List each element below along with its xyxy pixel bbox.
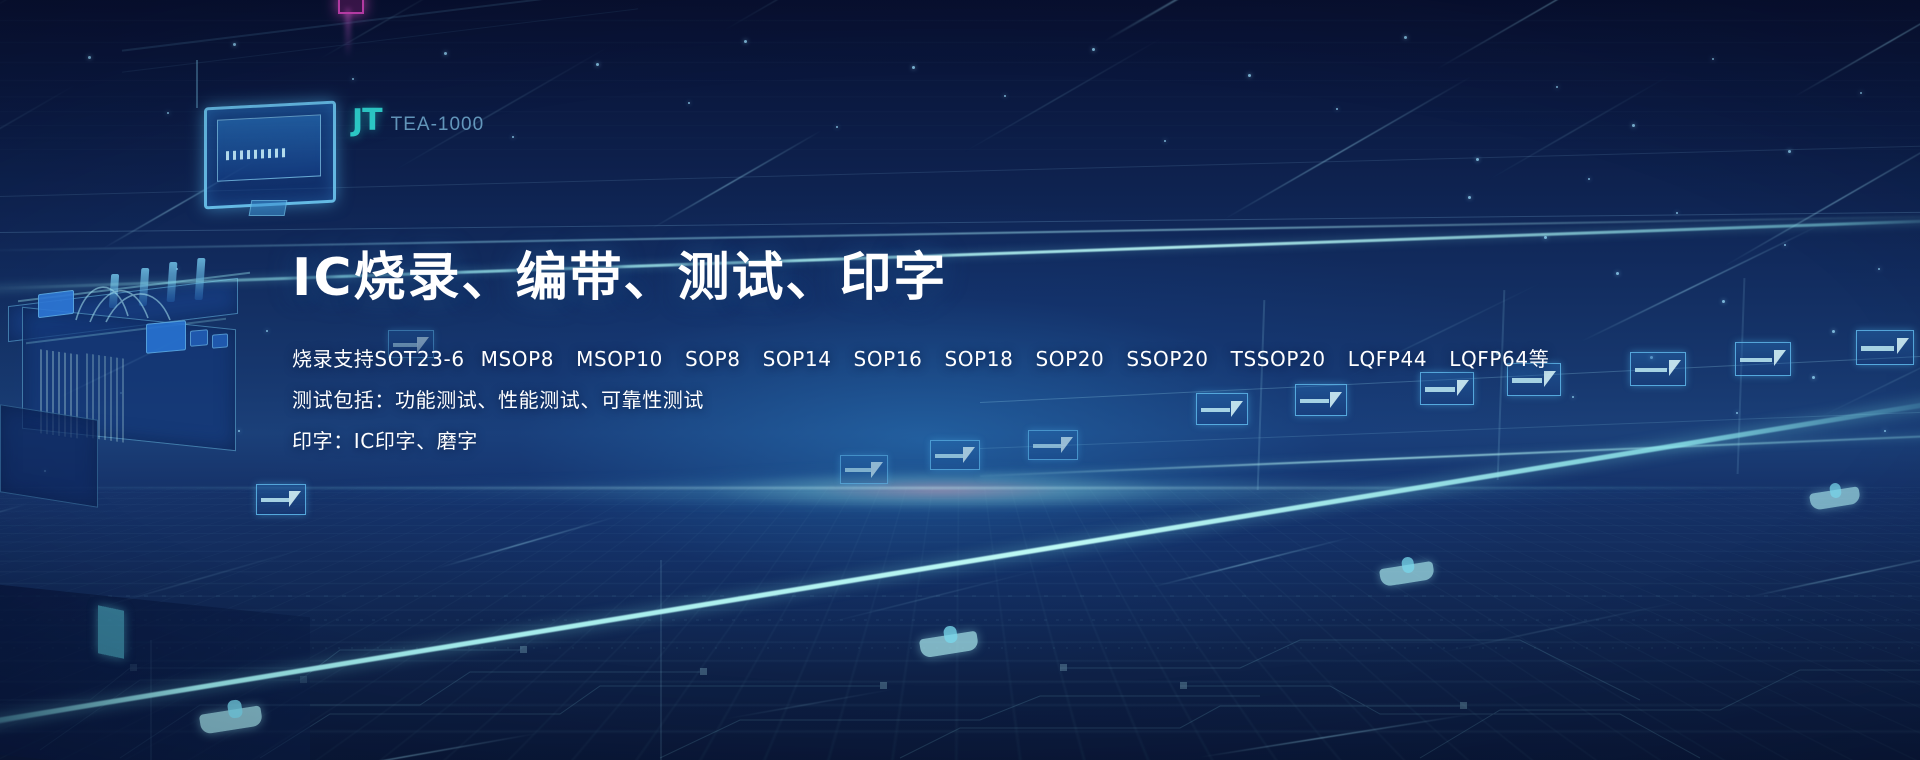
- equipment-brand-mark: JT TEA-1000: [352, 103, 484, 138]
- marking-spec-line: 印字：IC印字、磨字: [292, 431, 1592, 451]
- monitor-screen: [217, 114, 321, 181]
- burn-in-lead: 烧录支持SOT23-6: [292, 347, 465, 371]
- package-type-ssop20: SSOP20: [1126, 349, 1208, 369]
- machine-cabling: [72, 268, 202, 324]
- monitor-icon: [1630, 352, 1686, 386]
- package-type-lqfp64等: LQFP64等: [1449, 349, 1549, 369]
- package-type-lqfp44: LQFP44: [1348, 349, 1428, 369]
- indicator-light-icon: [98, 605, 124, 659]
- indicator-beam: [345, 8, 351, 58]
- monitor-stand: [249, 200, 288, 216]
- package-type-msop10: MSOP10: [576, 349, 663, 369]
- wall-pillar: [660, 560, 662, 760]
- burn-in-spec-line: 烧录支持SOT23-6MSOP8MSOP10SOP8SOP14SOP16SOP1…: [292, 349, 1592, 369]
- package-type-sop8: SOP8: [685, 349, 741, 369]
- package-list: MSOP8MSOP10SOP8SOP14SOP16SOP18SOP20SSOP2…: [481, 347, 1550, 371]
- monitor-readout: [226, 148, 286, 160]
- monitor-icon: [1735, 342, 1791, 376]
- monitor-mount: [196, 60, 198, 108]
- package-type-sop18: SOP18: [944, 349, 1013, 369]
- monitor-icon: [1856, 330, 1914, 365]
- package-type-sop20: SOP20: [1035, 349, 1104, 369]
- package-type-msop8: MSOP8: [481, 349, 554, 369]
- page-title: IC烧录、编带、测试、印字: [292, 248, 1592, 309]
- indicator-light-icon: [338, 0, 364, 14]
- hero-banner: JT TEA-1000: [0, 0, 1920, 760]
- brand-logo-text: JT: [352, 103, 382, 138]
- monitor-icon: [256, 484, 306, 515]
- monitor-icon: [204, 101, 336, 210]
- test-spec-line: 测试包括：功能测试、性能测试、可靠性测试: [292, 390, 1592, 410]
- hero-content: IC烧录、编带、测试、印字 烧录支持SOT23-6MSOP8MSOP10SOP8…: [292, 248, 1592, 451]
- monitor-icon: [840, 455, 888, 484]
- package-type-tssop20: TSSOP20: [1231, 349, 1326, 369]
- equipment-model-text: TEA-1000: [391, 114, 485, 136]
- package-type-sop16: SOP16: [854, 349, 923, 369]
- package-type-sop14: SOP14: [763, 349, 832, 369]
